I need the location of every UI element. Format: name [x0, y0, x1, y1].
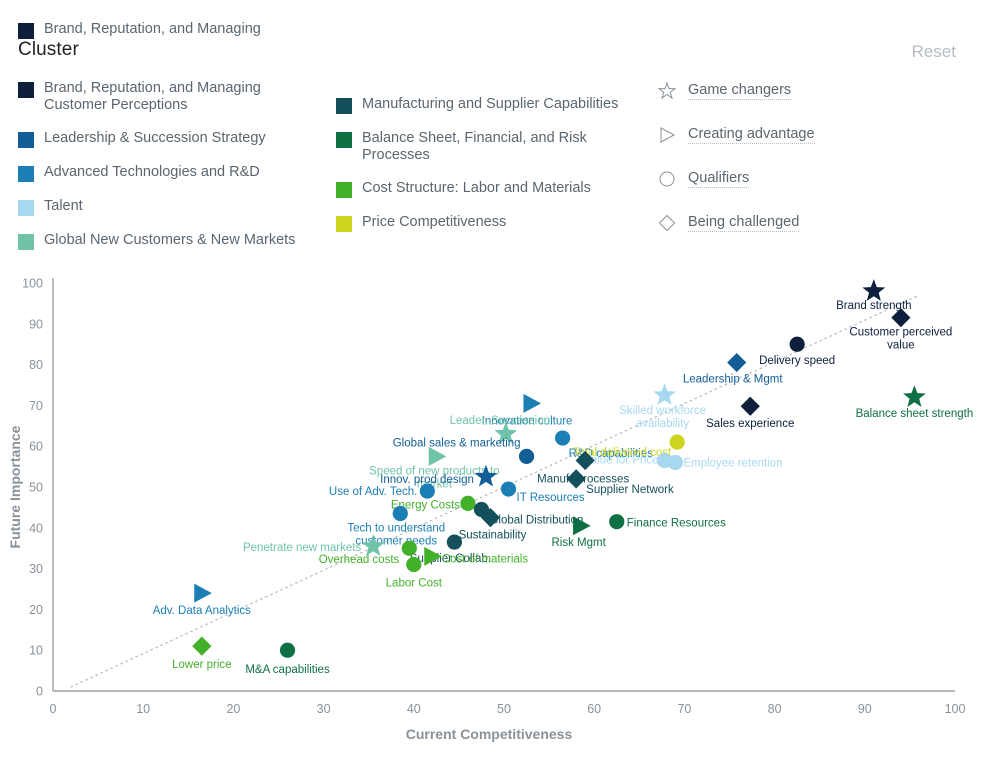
data-point[interactable]: Global sales & marketing — [393, 437, 534, 464]
marker-circle[interactable] — [555, 430, 570, 445]
cluster-legend-label: Manufacturing and Supplier Capabilities — [362, 96, 618, 113]
cluster-color-swatch — [18, 166, 34, 182]
reset-button[interactable]: Reset — [912, 42, 956, 62]
cluster-legend-label: Balance Sheet, Financial, and Risk Proce… — [362, 130, 636, 164]
cluster-legend-label: Cost Structure: Labor and Materials — [362, 180, 591, 197]
marker-circle[interactable] — [609, 514, 624, 529]
marker-circle[interactable] — [668, 455, 683, 470]
data-point[interactable]: Adv. Data Analytics — [153, 584, 251, 618]
data-point[interactable]: Balance sheet strength — [856, 385, 974, 420]
shape-legend-item[interactable]: Qualifiers — [658, 170, 978, 188]
x-axis-tick-label: 10 — [136, 702, 150, 716]
shape-legend-item[interactable]: Being challenged — [658, 214, 978, 232]
top-cluster-swatch-row: Brand, Reputation, and Managing — [18, 21, 261, 39]
cluster-legend-item[interactable]: Cost Structure: Labor and Materials — [336, 180, 636, 198]
data-point[interactable]: Brand strength — [836, 279, 911, 312]
x-axis-title: Current Competitiveness — [406, 726, 573, 742]
data-point-label: Skilled workforce — [619, 405, 706, 417]
data-point-label: Adv. Data Analytics — [153, 605, 251, 617]
parity-reference-line — [71, 295, 919, 687]
y-axis-tick-label: 0 — [36, 685, 43, 699]
data-point-label: Use of Adv. Tech. — [329, 486, 417, 498]
data-point-label: IT Resources — [517, 492, 585, 504]
data-point-label: Global sales & marketing — [393, 437, 521, 449]
marker-circle[interactable] — [460, 496, 475, 511]
data-point-label: Labor Cost — [386, 578, 443, 590]
data-point-label: Employee retention — [683, 458, 782, 470]
data-point-label: Overhead costs — [319, 554, 400, 566]
cluster-legend-column-1: Brand, Reputation, and Managing Customer… — [18, 80, 318, 266]
x-axis-tick-label: 50 — [497, 702, 511, 716]
y-axis-tick-label: 30 — [29, 562, 43, 576]
data-point-label-line2: availability — [636, 418, 689, 430]
x-axis-tick-label: 80 — [768, 702, 782, 716]
data-point-label: Finance Resources — [627, 518, 726, 530]
data-point-label: Tech to understand — [347, 523, 445, 535]
shape-legend-label: Qualifiers — [688, 170, 749, 188]
cluster-color-swatch — [18, 132, 34, 148]
cluster-color-swatch — [336, 132, 352, 148]
marker-circle[interactable] — [670, 435, 685, 450]
shape-legend-label: Creating advantage — [688, 126, 815, 144]
cluster-legend-item[interactable]: Global New Customers & New Markets — [18, 232, 318, 250]
cluster-legend-item[interactable]: Advanced Technologies and R&D — [18, 164, 318, 182]
y-axis-tick-label: 20 — [29, 603, 43, 617]
y-axis-title: Future Importance — [7, 425, 23, 548]
cluster-color-swatch — [18, 200, 34, 216]
marker-circle[interactable] — [790, 337, 805, 352]
triangle-outline-icon — [658, 126, 676, 144]
data-point[interactable]: Customer perceivedvalue — [849, 308, 952, 352]
legend-title: Cluster — [18, 39, 79, 61]
marker-star[interactable] — [653, 383, 676, 405]
data-point[interactable]: Sales experience — [706, 397, 794, 431]
data-points-layer: Brand strengthCustomer perceivedvalueDel… — [153, 279, 974, 676]
cluster-legend-label: Global New Customers & New Markets — [44, 232, 295, 249]
star-outline-icon — [658, 82, 676, 100]
data-point-label: Leadership & Mgmt — [683, 374, 784, 386]
cluster-legend-label: Price Competitiveness — [362, 214, 506, 231]
cluster-legend-item[interactable]: Price Competitiveness — [336, 214, 636, 232]
data-point-label: Leader. Succession — [450, 415, 550, 427]
marker-star[interactable] — [862, 279, 885, 301]
data-point-label: Supplier Network — [586, 484, 674, 496]
shape-legend-label: Game changers — [688, 82, 791, 100]
data-point-label: Delivery speed — [759, 355, 835, 367]
cluster-legend-item[interactable]: Balance Sheet, Financial, and Risk Proce… — [336, 130, 636, 164]
y-axis-tick-label: 70 — [29, 399, 43, 413]
data-point-label: Sales experience — [706, 418, 794, 430]
data-point-label: Risk Mgmt — [552, 537, 607, 549]
y-axis-tick-label: 40 — [29, 521, 43, 535]
data-point-label: Balance sheet strength — [856, 408, 974, 420]
top-cluster-label: Brand, Reputation, and Managing — [44, 21, 261, 38]
marker-diamond[interactable] — [192, 637, 211, 656]
shape-legend-item[interactable]: Creating advantage — [658, 126, 978, 144]
shape-legend-item[interactable]: Game changers — [658, 82, 978, 100]
cluster-legend-label: Advanced Technologies and R&D — [44, 164, 260, 181]
cluster-legend-label: Leadership & Succession Strategy — [44, 130, 266, 147]
marker-circle[interactable] — [406, 557, 421, 572]
marker-circle[interactable] — [393, 506, 408, 521]
data-point-label: Global Distribution — [489, 514, 583, 526]
marker-star[interactable] — [903, 385, 926, 407]
x-axis-tick-label: 30 — [317, 702, 331, 716]
data-point[interactable]: M&A capabilities — [245, 643, 330, 677]
shape-legend-label: Being challenged — [688, 214, 799, 232]
cluster-legend-item[interactable]: Manufacturing and Supplier Capabilities — [336, 96, 636, 114]
cluster-legend-column-2: Manufacturing and Supplier CapabilitiesB… — [336, 96, 636, 248]
y-axis-tick-label: 10 — [29, 644, 43, 658]
marker-circle[interactable] — [519, 449, 534, 464]
cluster-color-swatch — [18, 82, 34, 98]
data-point-label: Value for Price — [584, 454, 659, 466]
data-point[interactable]: Skilled workforceavailability — [619, 383, 706, 430]
y-axis-tick-label: 50 — [29, 481, 43, 495]
marker-triangle[interactable] — [429, 447, 447, 466]
cluster-color-swatch — [336, 98, 352, 114]
cluster-color-swatch — [336, 182, 352, 198]
cluster-legend-label: Talent — [44, 198, 83, 215]
data-point[interactable]: Lower price — [172, 637, 231, 672]
cluster-legend-item[interactable]: Brand, Reputation, and Managing Customer… — [18, 80, 318, 114]
cluster-legend-item[interactable]: Leadership & Succession Strategy — [18, 130, 318, 148]
data-point[interactable]: Delivery speed — [759, 337, 835, 368]
circle-outline-icon — [658, 170, 676, 188]
x-axis-tick-label: 60 — [587, 702, 601, 716]
x-axis-tick-label: 70 — [677, 702, 691, 716]
data-point-label: Customer perceived — [849, 327, 952, 339]
x-axis-tick-label: 40 — [407, 702, 421, 716]
data-point-label: Lower price — [172, 659, 231, 671]
scatter-chart: 0102030405060708090100010203040506070809… — [0, 262, 982, 762]
data-point-label: Sustainability — [459, 530, 527, 542]
data-point[interactable]: Tech to understandcustomer needs — [347, 506, 445, 548]
marker-circle[interactable] — [447, 534, 462, 549]
shape-legend: Game changersCreating advantageQualifier… — [658, 82, 978, 258]
marker-circle[interactable] — [402, 541, 417, 556]
x-axis-tick-label: 0 — [50, 702, 57, 716]
y-axis-tick-label: 80 — [29, 358, 43, 372]
x-axis-tick-label: 100 — [945, 702, 966, 716]
marker-circle[interactable] — [501, 481, 516, 496]
marker-triangle[interactable] — [523, 394, 541, 413]
data-point-label: Cost of materials — [442, 553, 529, 565]
cluster-legend-label: Brand, Reputation, and Managing Customer… — [44, 80, 318, 114]
marker-circle[interactable] — [280, 643, 295, 658]
data-point-label: Penetrate new markets — [243, 542, 362, 554]
cluster-color-swatch — [336, 216, 352, 232]
y-axis-tick-label: 60 — [29, 440, 43, 454]
marker-triangle[interactable] — [194, 584, 212, 603]
marker-diamond[interactable] — [727, 353, 746, 372]
x-axis-tick-label: 20 — [226, 702, 240, 716]
marker-diamond[interactable] — [567, 469, 586, 488]
data-point-label-line2: value — [887, 340, 915, 352]
cluster-color-swatch — [18, 234, 34, 250]
diamond-outline-icon — [658, 214, 676, 232]
data-point[interactable]: Finance Resources — [609, 514, 726, 530]
x-axis-tick-label: 90 — [858, 702, 872, 716]
marker-circle[interactable] — [420, 483, 435, 498]
data-point[interactable]: Employee retention — [668, 455, 783, 470]
marker-diamond[interactable] — [741, 397, 760, 416]
cluster-legend-item[interactable]: Talent — [18, 198, 318, 216]
y-axis-tick-label: 100 — [22, 277, 43, 291]
data-point-label: M&A capabilities — [245, 664, 330, 676]
y-axis-tick-label: 90 — [29, 317, 43, 331]
cluster-color-swatch — [18, 23, 34, 39]
